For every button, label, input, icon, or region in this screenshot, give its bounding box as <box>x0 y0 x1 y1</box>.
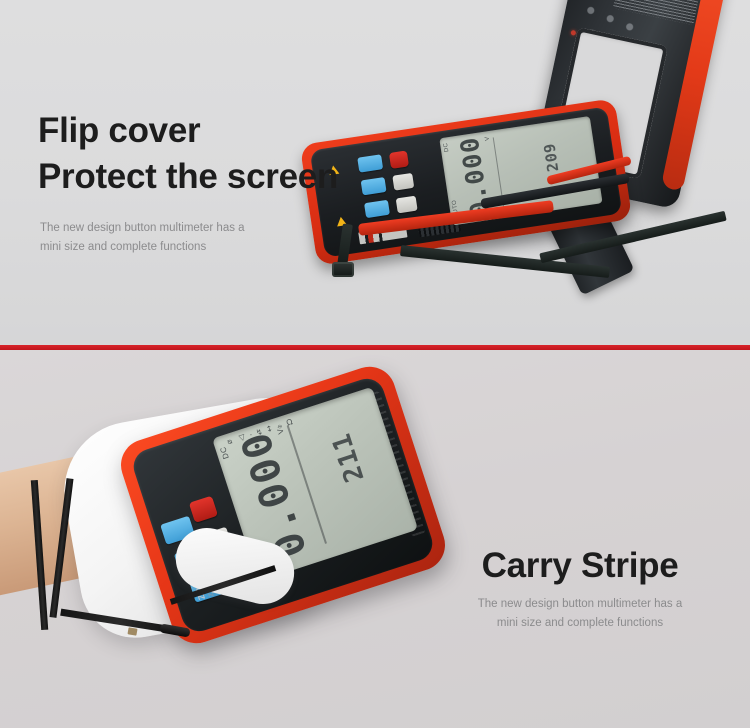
section-flip-cover: AUTO DC 0.000 V 209 <box>0 0 750 345</box>
subtitle-line-2: mini size and complete functions <box>40 238 310 257</box>
section-bottom-subtitle: The new design button multimeter has a m… <box>440 595 720 632</box>
power-button[interactable] <box>189 496 218 523</box>
subtitle-line-2: mini size and complete functions <box>440 614 720 633</box>
button-hold[interactable] <box>364 200 390 218</box>
product-marketing-page: AUTO DC 0.000 V 209 <box>0 0 750 728</box>
section-top-subtitle: The new design button multimeter has a m… <box>40 219 310 256</box>
lcd-secondary-value: 211 <box>327 429 388 537</box>
carry-strap-buckle <box>332 262 354 277</box>
heading-carry-stripe: Carry Stripe <box>430 545 730 587</box>
subtitle-line-1: The new design button multimeter has a <box>440 595 720 614</box>
section-top-heading: Flip cover Protect the screen <box>38 108 438 199</box>
subtitle-line-1: The new design button multimeter has a <box>40 219 310 238</box>
section-bottom-heading: Carry Stripe <box>430 545 730 587</box>
heading-line-2: Protect the screen <box>38 154 438 200</box>
heading-line-1: Flip cover <box>38 108 438 154</box>
lcd-unit-label: V <box>485 136 492 141</box>
section-carry-stripe: ZOYI ZT-S2 AUTO DC 0.000 V 211 ⌀◁·↯↕⦵Ω <box>0 350 750 728</box>
wrist-lanyard-ferrule <box>127 627 137 635</box>
lcd-dc-indicator: DC <box>443 142 450 152</box>
